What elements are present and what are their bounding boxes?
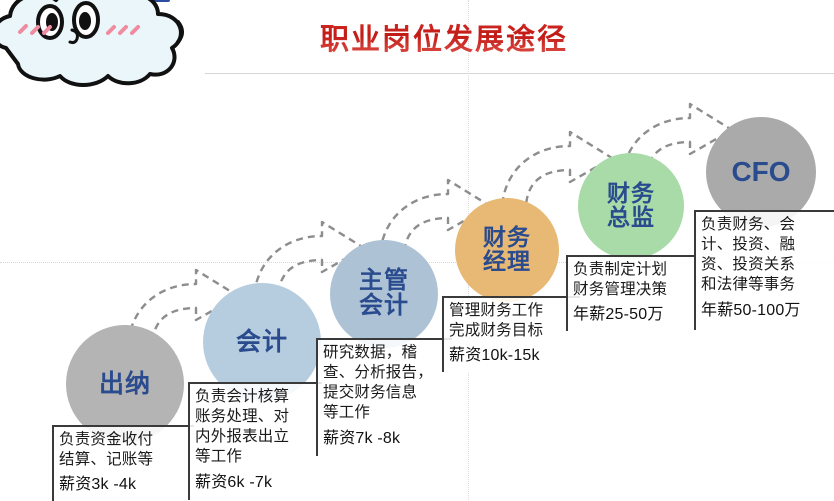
step-4-duty-1: 完成财务目标: [449, 321, 578, 341]
step-5-label-line-1: 财务: [607, 182, 655, 206]
step-2-duty-2: 内外报表出立: [195, 427, 320, 447]
step-5-card: 负责制定计划 财务管理决策 年薪25-50万: [566, 255, 696, 331]
step-1-card: 负责资金收付 结算、记账等 薪资3k -4k: [52, 425, 194, 501]
step-1-label: 出纳: [99, 371, 151, 397]
step-3-pay: 薪资7k -8k: [323, 429, 450, 450]
step-3-label-line-1: 主管: [359, 269, 409, 294]
step-1-duty-1: 结算、记账等: [59, 450, 192, 470]
step-6-label: CFO: [731, 157, 790, 186]
step-6-duty-2: 资、投资关系: [701, 255, 832, 275]
step-6-pay: 年薪50-100万: [701, 301, 832, 322]
step-5-circle[interactable]: 财务 总监: [578, 153, 684, 259]
step-3-card: 研究数据，稽 查、分析报告， 提交财务信息 等工作 薪资7k -8k: [316, 338, 452, 456]
step-2-pay: 薪资6k -7k: [195, 473, 320, 494]
diagram-canvas: 职业岗位发展途径 出纳 负责资金收付 结算、记账等 薪资3k -4k 会计 负责…: [0, 0, 834, 500]
step-5-duty-0: 负责制定计划: [573, 260, 694, 280]
step-4-label-line-1: 财务: [483, 226, 531, 250]
step-4-label-line-2: 经理: [483, 250, 531, 274]
step-2-card: 负责会计核算 账务处理、对 内外报表出立 等工作 薪资6k -7k: [188, 382, 322, 500]
step-6-duty-1: 计、投资、融: [701, 235, 832, 255]
step-3-duty-1: 查、分析报告，: [323, 363, 450, 383]
step-6-duty-0: 负责财务、会: [701, 215, 832, 235]
step-2-duty-1: 账务处理、对: [195, 407, 320, 427]
step-5-duty-1: 财务管理决策: [573, 280, 694, 300]
step-2-duty-0: 负责会计核算: [195, 387, 320, 407]
cloud-mascot-icon: [0, 0, 202, 94]
step-2-label: 会计: [236, 329, 288, 355]
step-4-pay: 薪资10k-15k: [449, 346, 578, 367]
step-3-duty-3: 等工作: [323, 403, 450, 423]
step-3-label-line-2: 会计: [359, 294, 409, 319]
step-3-duty-0: 研究数据，稽: [323, 343, 450, 363]
step-5-pay: 年薪25-50万: [573, 305, 694, 326]
step-4-card: 管理财务工作 完成财务目标 薪资10k-15k: [442, 296, 580, 372]
step-5-label-line-2: 总监: [607, 206, 655, 230]
step-3-circle[interactable]: 主管 会计: [330, 240, 438, 348]
title-underline: [205, 73, 834, 74]
step-3-duty-2: 提交财务信息: [323, 383, 450, 403]
step-4-duty-0: 管理财务工作: [449, 301, 578, 321]
step-2-duty-3: 等工作: [195, 447, 320, 467]
step-1-duty-0: 负责资金收付: [59, 430, 192, 450]
step-6-duty-3: 和法律等事务: [701, 275, 832, 295]
step-6-card: 负责财务、会 计、投资、融 资、投资关系 和法律等事务 年薪50-100万: [694, 210, 834, 330]
step-1-pay: 薪资3k -4k: [59, 475, 192, 496]
page-title: 职业岗位发展途径: [320, 16, 620, 58]
step-4-circle[interactable]: 财务 经理: [455, 198, 559, 302]
